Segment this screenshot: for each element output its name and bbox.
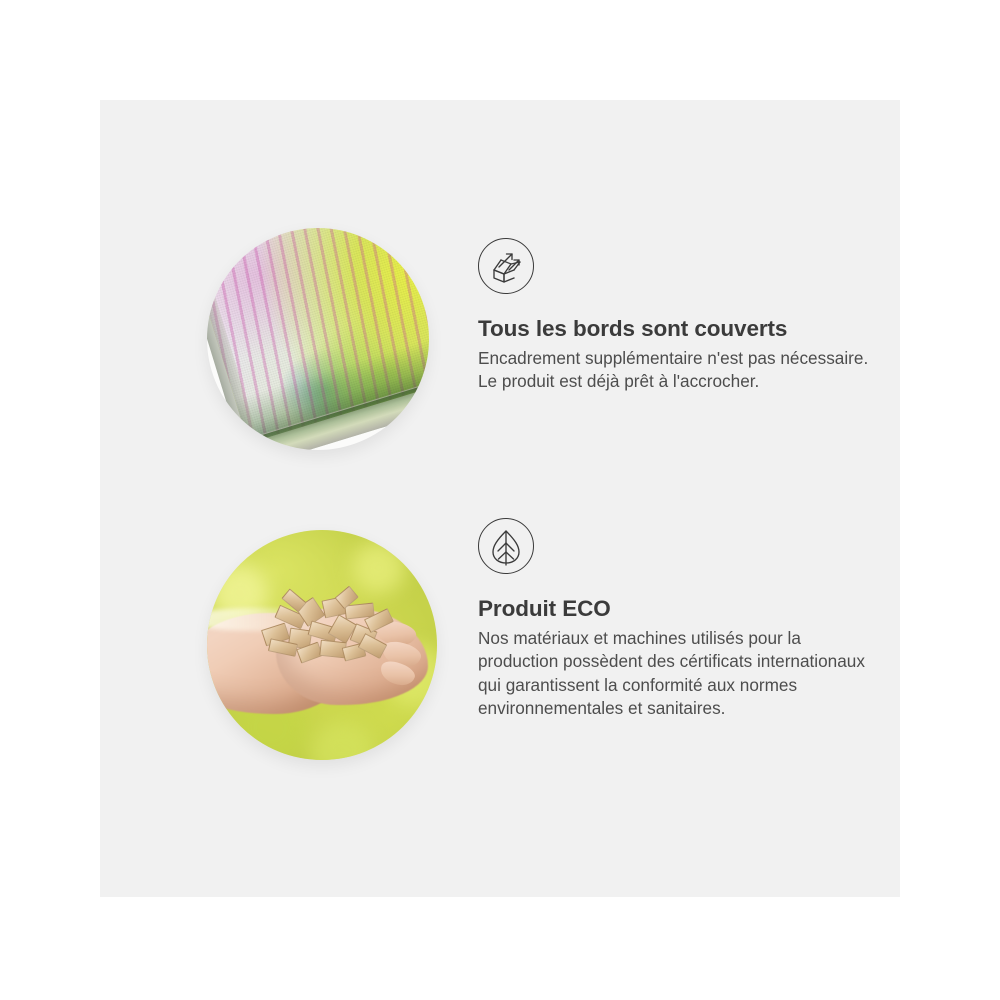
canvas-wrapped-edge-icon bbox=[478, 238, 534, 294]
wood-chip-pile bbox=[258, 590, 401, 668]
canvas-corner-photo bbox=[207, 228, 429, 450]
feature-title: Produit ECO bbox=[478, 595, 878, 623]
wood-chips-in-hands-photo bbox=[207, 530, 437, 760]
feature-text-eco-product: Produit ECO Nos matériaux et machines ut… bbox=[478, 518, 878, 720]
product-feature-infographic: Tous les bords sont couverts Encadrement… bbox=[0, 0, 1000, 1000]
leaf-icon bbox=[478, 518, 534, 574]
canvas-corner-photo-wrapper bbox=[207, 228, 429, 450]
feature-description: Encadrement supplémentaire n'est pas néc… bbox=[478, 347, 870, 393]
feature-description: Nos matériaux et machines utilisés pour … bbox=[478, 627, 870, 720]
canvas-block bbox=[207, 228, 429, 444]
feature-text-edges-covered: Tous les bords sont couverts Encadrement… bbox=[478, 238, 878, 394]
feature-title: Tous les bords sont couverts bbox=[478, 315, 878, 343]
feature-panel: Tous les bords sont couverts Encadrement… bbox=[100, 100, 900, 897]
wood-chips-photo-wrapper bbox=[207, 530, 437, 760]
